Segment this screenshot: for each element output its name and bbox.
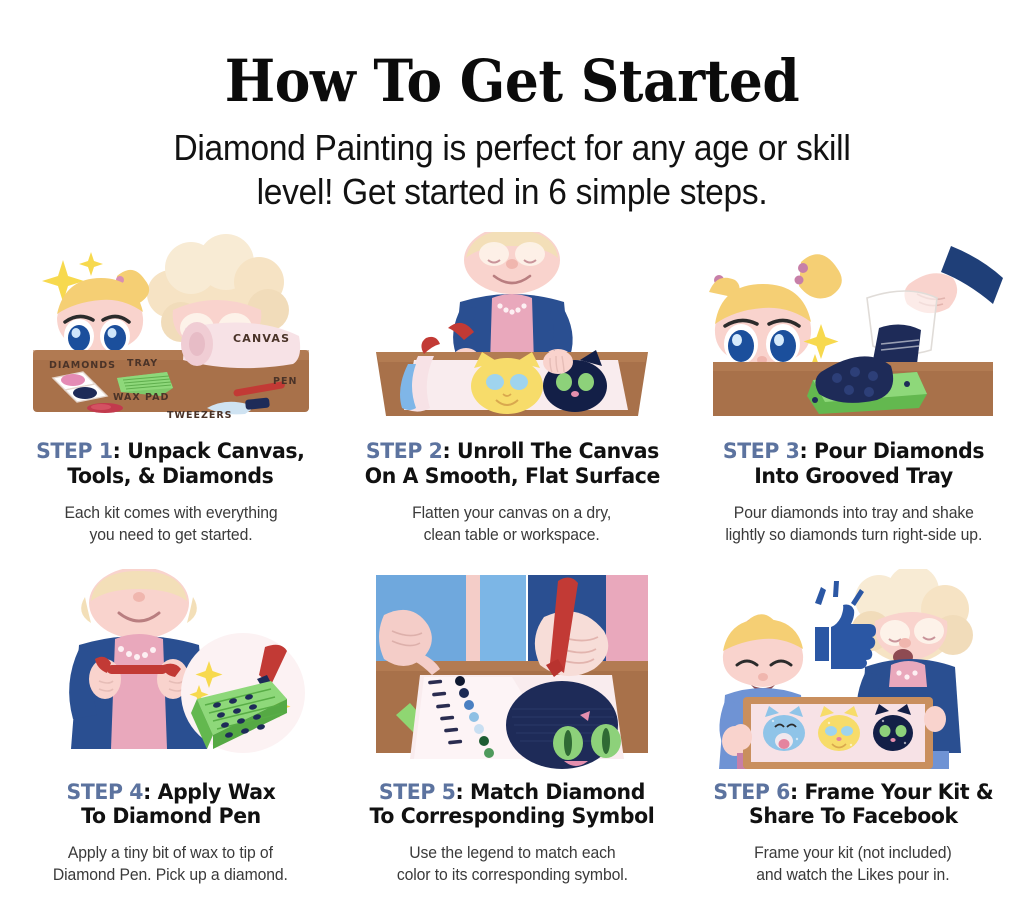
step-1-desc-line-2: you need to get started.	[64, 525, 277, 547]
tray-closeup-inset	[181, 633, 305, 753]
diamond-pen	[107, 665, 167, 674]
hand-left-holding-frame	[730, 724, 752, 750]
step-3-sep: :	[799, 439, 814, 464]
step-1-desc-line-1: Each kit comes with everything	[64, 503, 277, 525]
step-2-desc-line-1: Flatten your canvas on a dry,	[413, 503, 612, 525]
label-diamonds: DIAMONDS	[49, 360, 116, 371]
step-6-title-line-2: Share To Facebook	[749, 804, 958, 829]
label-canvas: CANVAS	[233, 332, 290, 345]
step-5-label: STEP 5: Match Diamond To Corresponding S…	[370, 781, 655, 831]
step-card-3: STEP 3: Pour Diamonds Into Grooved Tray …	[683, 232, 1024, 547]
step-1-sep: :	[113, 439, 128, 464]
step-5-description: Use the legend to match each color to it…	[396, 843, 627, 887]
step-6-number: STEP 6	[713, 780, 790, 805]
step-5-desc-line-1: Use the legend to match each	[396, 843, 627, 865]
step-2-label: STEP 2: Unroll The Canvas On A Smooth, F…	[364, 440, 659, 490]
step-4-desc-line-1: Apply a tiny bit of wax to tip of	[53, 843, 288, 865]
cat-face-yellow	[471, 352, 543, 414]
step-2-title-line-1: Unroll The Canvas	[457, 439, 659, 464]
step-6-illustration	[697, 569, 1010, 769]
step-card-5: STEP 5: Match Diamond To Corresponding S…	[341, 569, 682, 888]
step-card-6: STEP 6: Frame Your Kit & Share To Facebo…	[683, 569, 1024, 888]
step-2-illustration	[355, 232, 668, 428]
step-3-desc-line-1: Pour diamonds into tray and shake	[725, 503, 982, 525]
step-6-desc-line-2: and watch the Likes pour in.	[755, 865, 952, 887]
page-subtitle: Diamond Painting is perfect for any age …	[36, 126, 988, 214]
step-5-desc-line-2: color to its corresponding symbol.	[396, 865, 627, 887]
steps-grid: CANVAS DIAMONDS	[0, 232, 1024, 887]
step-card-4: STEP 4: Apply Wax To Diamond Pen Apply a…	[0, 569, 341, 888]
step-3-title-line-1: Pour Diamonds	[814, 439, 984, 464]
label-tray: TRAY	[127, 358, 158, 369]
step-6-sep: :	[790, 780, 805, 805]
step-3-number: STEP 3	[723, 439, 800, 464]
step-3-label: STEP 3: Pour Diamonds Into Grooved Tray	[723, 440, 984, 490]
step-2-desc-line-2: clean table or workspace.	[413, 525, 612, 547]
label-wax-pad: WAX PAD	[113, 392, 169, 403]
label-tweezers: TWEEZERS	[167, 410, 232, 421]
step-5-illustration	[355, 569, 668, 769]
step-card-2: STEP 2: Unroll The Canvas On A Smooth, F…	[341, 232, 682, 547]
step-6-description: Frame your kit (not included) and watch …	[755, 843, 952, 887]
hand-right-holding-frame	[924, 706, 946, 732]
step-6-desc-line-1: Frame your kit (not included)	[755, 843, 952, 865]
subtitle-line-1: Diamond Painting is perfect for any age …	[36, 126, 988, 170]
step-1-title-line-2: Tools, & Diamonds	[68, 464, 274, 489]
step-3-description: Pour diamonds into tray and shake lightl…	[725, 503, 982, 547]
step-4-label: STEP 4: Apply Wax To Diamond Pen	[66, 781, 275, 831]
step-4-illustration	[14, 569, 327, 769]
header: How To Get Started Diamond Painting is p…	[0, 0, 1024, 214]
infographic-page: How To Get Started Diamond Painting is p…	[0, 0, 1024, 923]
step-3-title-line-2: Into Grooved Tray	[754, 464, 953, 489]
step-6-label: STEP 6: Frame Your Kit & Share To Facebo…	[713, 781, 993, 831]
step-1-description: Each kit comes with everything you need …	[64, 503, 277, 547]
step-5-title-line-1: Match Diamond	[470, 780, 645, 805]
step-4-description: Apply a tiny bit of wax to tip of Diamon…	[53, 843, 288, 887]
step-4-sep: :	[143, 780, 158, 805]
step-3-illustration	[697, 232, 1010, 428]
step-4-desc-line-2: Diamond Pen. Pick up a diamond.	[53, 865, 288, 887]
canvas-with-legend	[410, 675, 624, 769]
step-5-number: STEP 5	[379, 780, 456, 805]
step-1-illustration: CANVAS DIAMONDS	[14, 232, 327, 428]
page-title: How To Get Started	[41, 52, 983, 110]
step-4-title-line-1: Apply Wax	[157, 780, 275, 805]
step-4-number: STEP 4	[66, 780, 143, 805]
subtitle-line-2: level! Get started in 6 simple steps.	[36, 170, 988, 214]
step-1-label: STEP 1: Unpack Canvas, Tools, & Diamonds	[36, 440, 304, 490]
step-2-description: Flatten your canvas on a dry, clean tabl…	[413, 503, 612, 547]
step-4-title-line-2: To Diamond Pen	[81, 804, 261, 829]
step-3-desc-line-2: lightly so diamonds turn right-side up.	[725, 525, 982, 547]
step-1-number: STEP 1	[36, 439, 113, 464]
framed-painting	[743, 697, 933, 769]
step-2-title-line-2: On A Smooth, Flat Surface	[364, 464, 659, 489]
step-6-title-line-1: Frame Your Kit &	[804, 780, 993, 805]
step-2-sep: :	[442, 439, 457, 464]
step-5-title-line-2: To Corresponding Symbol	[370, 804, 655, 829]
label-pen: PEN	[273, 376, 297, 387]
hand-pouring-bag	[867, 246, 1003, 367]
canvas-roll: CANVAS	[181, 322, 300, 368]
step-card-1: CANVAS DIAMONDS	[0, 232, 341, 547]
step-1-title-line-1: Unpack Canvas,	[128, 439, 305, 464]
step-2-number: STEP 2	[365, 439, 442, 464]
woman-applying-wax	[69, 569, 209, 749]
step-5-sep: :	[456, 780, 471, 805]
